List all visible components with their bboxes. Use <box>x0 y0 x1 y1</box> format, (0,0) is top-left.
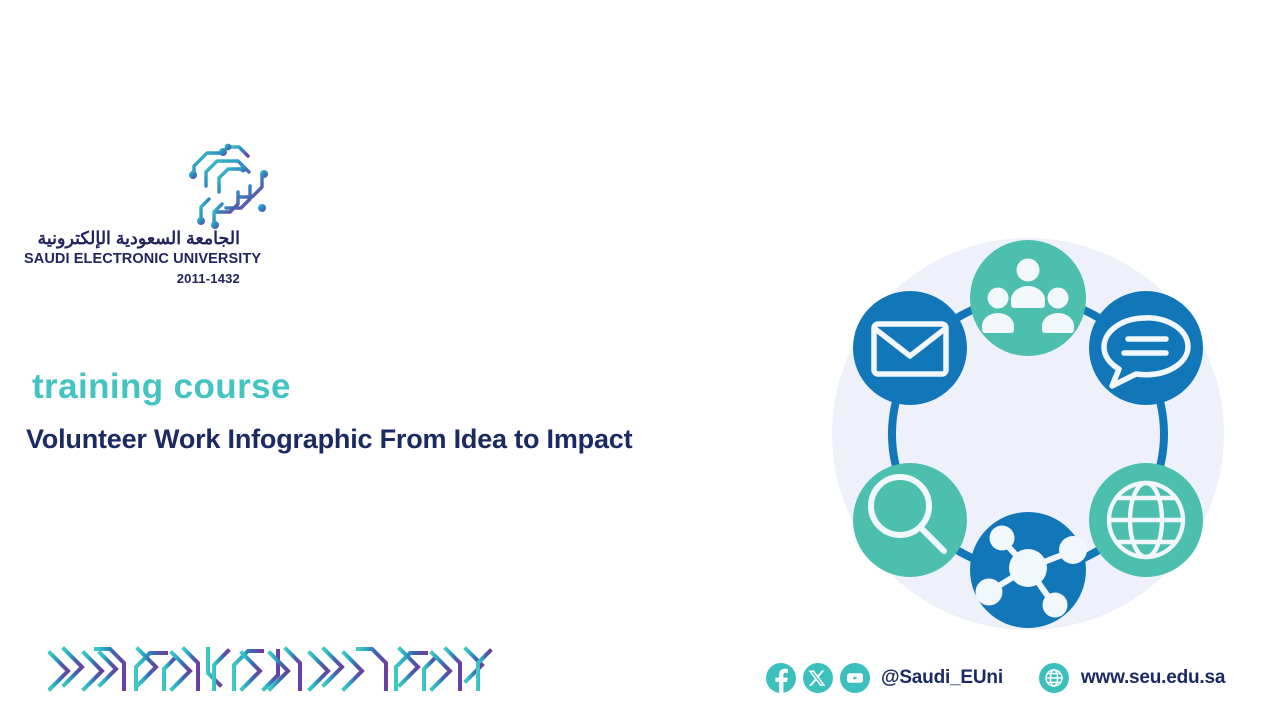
youtube-icon <box>840 663 870 693</box>
diagram-node-mail <box>853 291 967 405</box>
slide-canvas: الجامعة السعودية الإلكترونية SAUDI ELECT… <box>0 0 1280 720</box>
logo-english-name: SAUDI ELECTRONIC UNIVERSITY <box>24 251 240 268</box>
website-link[interactable] <box>1039 663 1069 693</box>
logo-years: 2011-1432 <box>24 271 240 287</box>
diagram-node-team <box>970 240 1086 356</box>
title-area: training course Volunteer Work Infograph… <box>26 368 766 455</box>
facebook-link[interactable] <box>766 663 796 693</box>
website-group[interactable]: www.seu.edu.sa <box>1039 663 1225 693</box>
diagram-node-chat <box>1089 291 1203 405</box>
x-twitter-icon <box>803 663 833 693</box>
x-twitter-link[interactable] <box>803 663 833 693</box>
course-kicker: training course <box>26 368 766 407</box>
diagram-node-globe <box>1089 463 1203 577</box>
website-url[interactable]: www.seu.edu.sa <box>1081 667 1225 689</box>
page-title: Volunteer Work Infographic From Idea to … <box>26 424 766 455</box>
youtube-link[interactable] <box>840 663 870 693</box>
seu-wordmark: الجامعة السعودية الإلكترونية SAUDI ELECT… <box>24 228 240 287</box>
seu-hexagon-circuit-logo-icon <box>176 142 280 234</box>
social-handle[interactable]: @Saudi_EUni <box>881 667 1003 689</box>
facebook-icon <box>766 663 796 693</box>
circuit-maze-pattern <box>48 645 500 697</box>
volunteer-work-cycle-diagram <box>828 238 1228 630</box>
diagram-node-search <box>853 463 967 577</box>
social-icon-group <box>766 663 870 693</box>
footer-social-bar: @Saudi_EUni www.seu.edu.sa <box>766 655 1225 701</box>
logo-arabic-name: الجامعة السعودية الإلكترونية <box>24 228 240 250</box>
globe-icon <box>1039 663 1069 693</box>
